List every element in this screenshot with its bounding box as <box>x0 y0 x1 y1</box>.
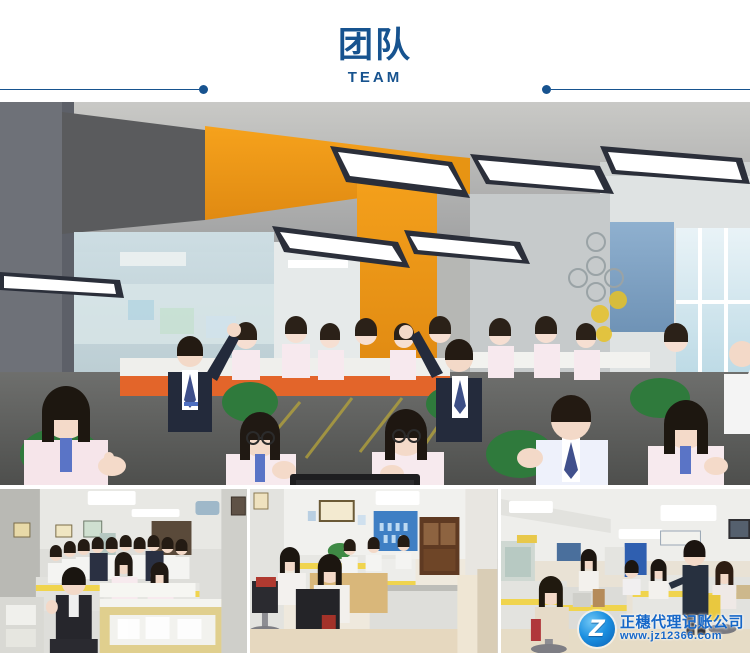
decor-line-left <box>0 85 208 94</box>
page-title-chinese: 团队 <box>0 26 750 66</box>
section-header: 团队 TEAM <box>0 0 750 102</box>
decor-dot-left-icon <box>199 85 208 94</box>
team-page: 团队 TEAM <box>0 0 750 653</box>
gallery-photo-2 <box>250 489 497 653</box>
gallery-item-2 <box>250 489 497 653</box>
decor-line-right <box>542 85 750 94</box>
page-title: 团队 TEAM <box>0 26 750 86</box>
hero-photo <box>0 102 750 485</box>
page-title-english: TEAM <box>0 69 750 86</box>
decor-line-left-rule <box>0 89 199 90</box>
gallery-photo-1 <box>0 489 247 653</box>
hero-photo-image <box>0 102 750 485</box>
gallery-row: 正穗代理记账公司 www.jz12366.com <box>0 489 750 653</box>
decor-dot-right-icon <box>542 85 551 94</box>
gallery-item-1 <box>0 489 247 653</box>
gallery-item-3: 正穗代理记账公司 www.jz12366.com <box>501 489 750 653</box>
gallery-photo-3 <box>501 489 750 653</box>
decor-line-right-rule <box>551 89 750 90</box>
